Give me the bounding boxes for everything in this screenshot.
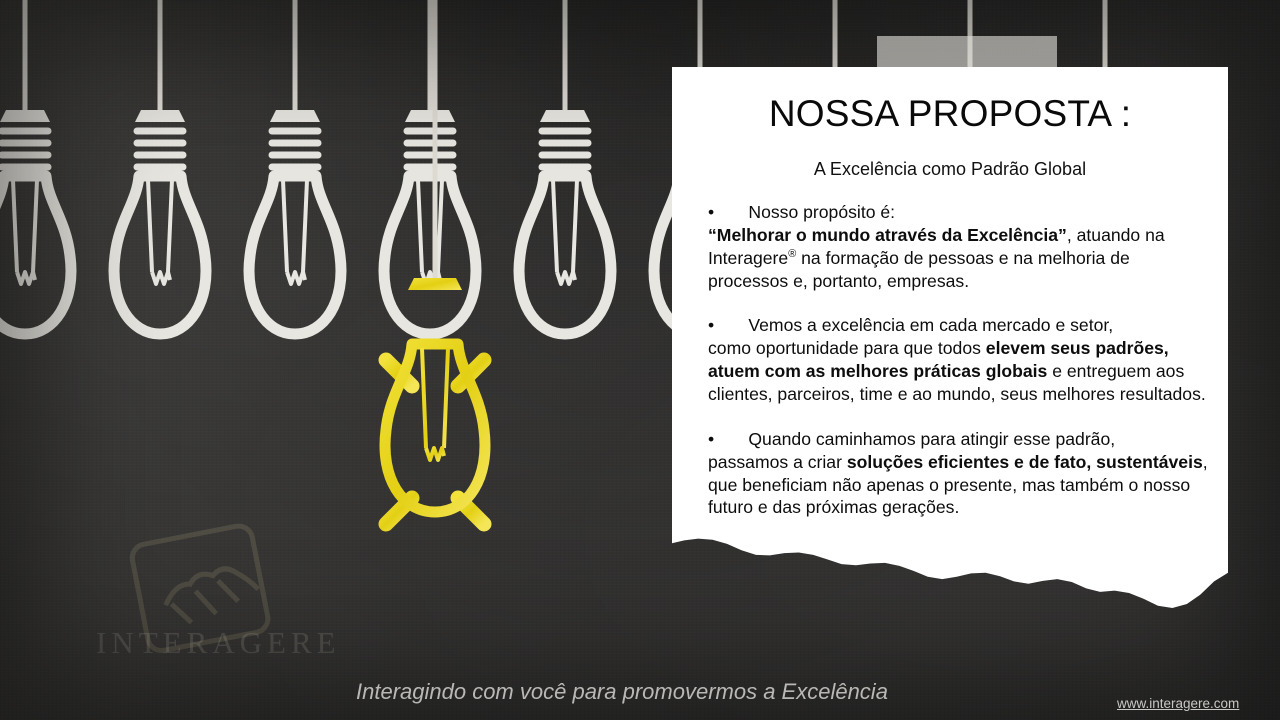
body-paragraph-list: • Nosso propósito é:“Melhorar o mundo at… [708,201,1208,519]
hanging-bulb [97,0,223,250]
emphasis-text: soluções eficientes e de fato, sustentáv… [847,452,1203,472]
page-title: NOSSA PROPOSTA : [672,93,1228,135]
body-paragraph: • Nosso propósito é:“Melhorar o mundo at… [708,201,1208,292]
body-paragraph: • Vemos a excelência em cada mercado e s… [708,314,1208,405]
paragraph-bullet-lead: • Nosso propósito é: [708,202,895,222]
hanging-bulb [232,0,358,250]
footer-website-link[interactable]: www.interagere.com [1117,696,1239,711]
hanging-bulb [0,0,88,250]
page-subtitle: A Excelência como Padrão Global [672,159,1228,180]
yellow-idea-bulb [360,0,510,580]
gray-tab-accent [877,36,1057,68]
body-paragraph: • Quando caminhamos para atingir esse pa… [708,428,1208,519]
hanging-bulb [502,0,628,250]
body-text: passamos a criar [708,452,847,472]
footer-tagline: Interagindo com você para promovermos a … [356,679,888,705]
body-text: como oportunidade para que todos [708,338,986,358]
presentation-slide: INTERAGERE NOSSA PROPOSTA : A Excelência… [0,0,1280,720]
emphasis-text: “Melhorar o mundo através da Excelência” [708,225,1067,245]
paragraph-bullet-lead: • Quando caminhamos para atingir esse pa… [708,429,1115,449]
paragraph-bullet-lead: • Vemos a excelência em cada mercado e s… [708,315,1113,335]
